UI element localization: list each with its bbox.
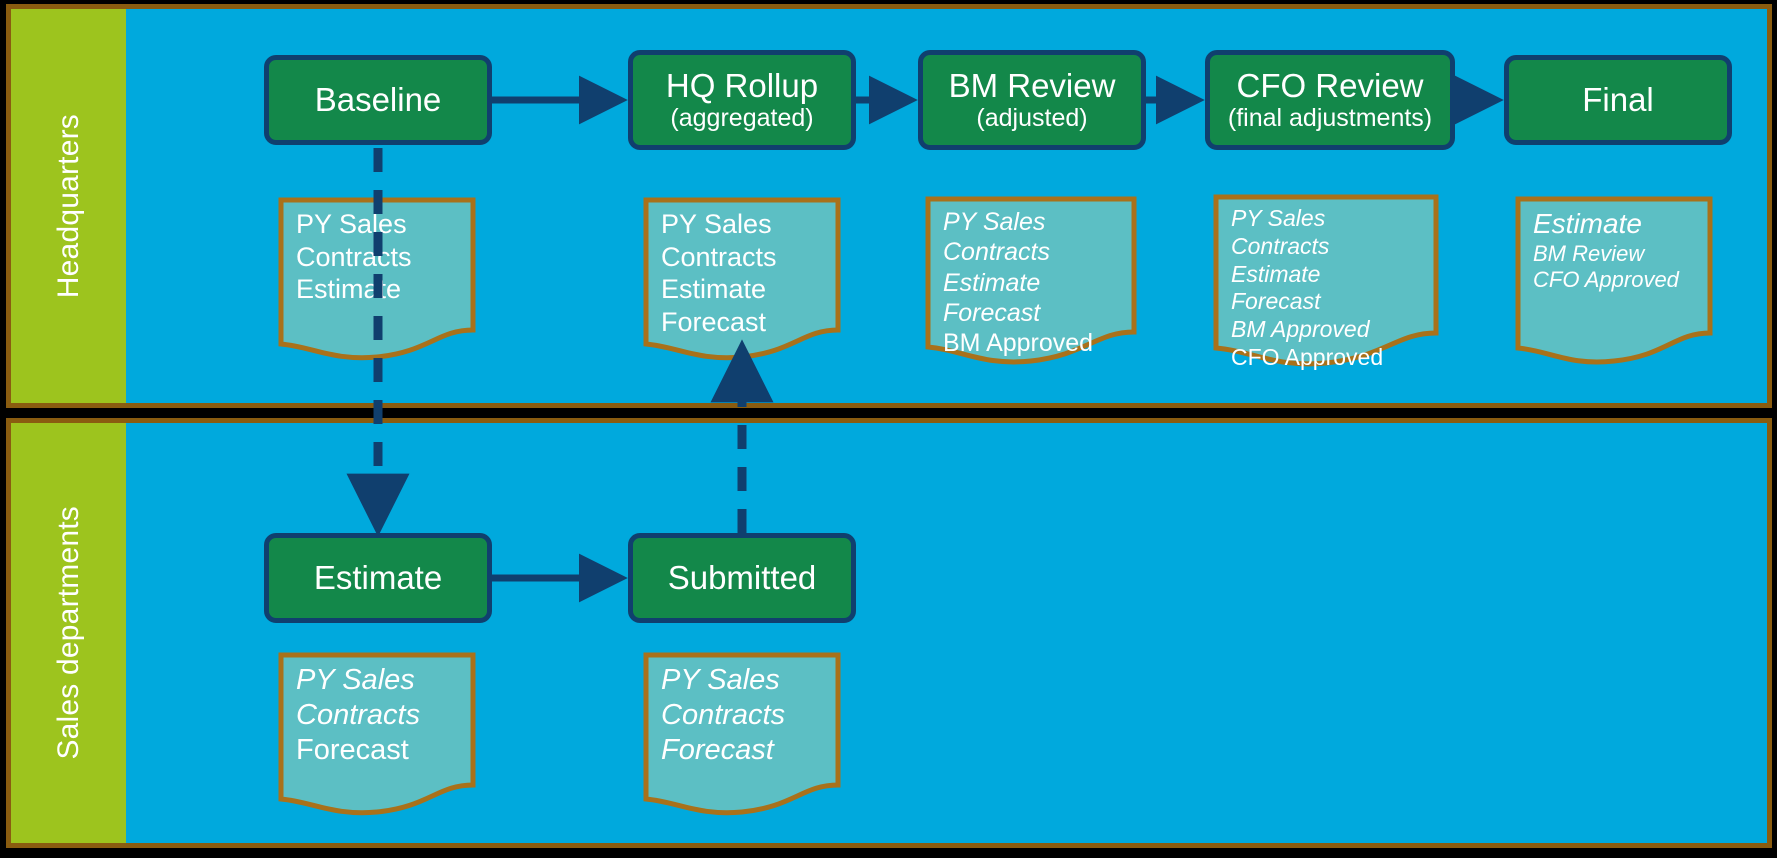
swimlane-diagram: Headquarters Baseline HQ Rollup (aggrega… bbox=[0, 0, 1777, 858]
connectors-layer bbox=[0, 0, 1777, 858]
